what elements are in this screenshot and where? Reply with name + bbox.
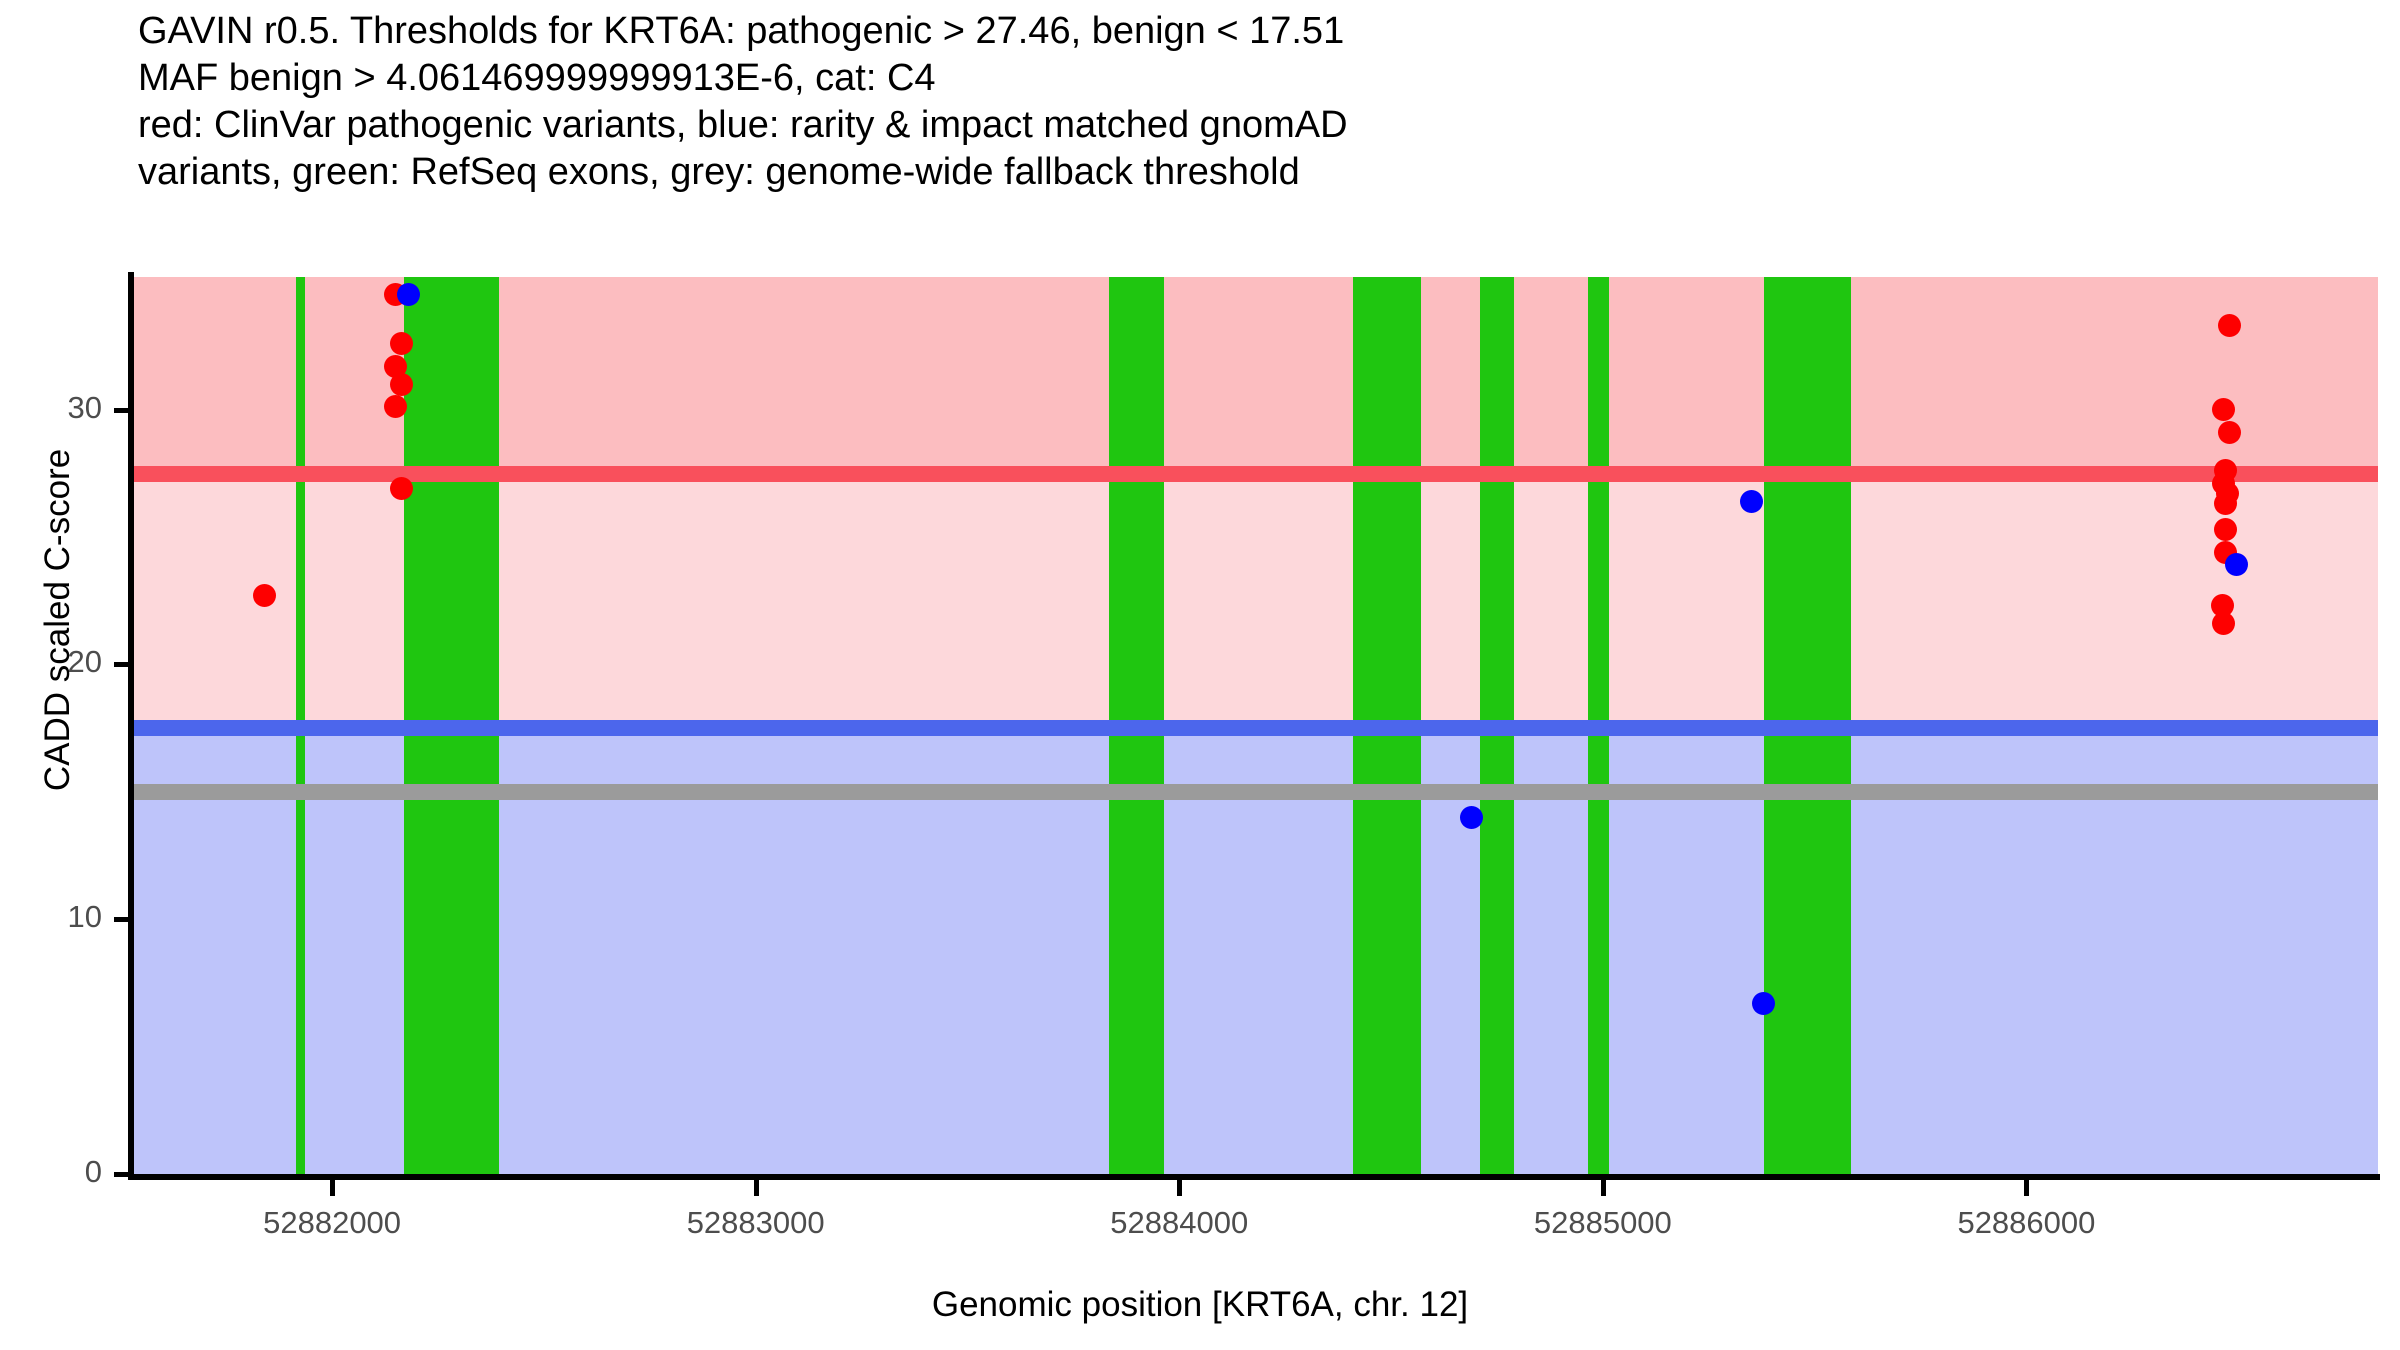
- x-tick-52885000: [1601, 1180, 1606, 1196]
- y-tick-label-0: 0: [0, 1154, 102, 1190]
- title-line-2: MAF benign > 4.061469999999913E-6, cat: …: [138, 55, 2338, 102]
- title-line-4: variants, green: RefSeq exons, grey: gen…: [138, 149, 2338, 196]
- x-tick-label-52886000: 52886000: [1886, 1205, 2166, 1241]
- x-tick-label-52885000: 52885000: [1463, 1205, 1743, 1241]
- y-tick-10: [114, 917, 128, 922]
- clinvar-variant-point: [2212, 612, 2235, 635]
- y-tick-20: [114, 662, 128, 667]
- y-tick-0: [114, 1172, 128, 1177]
- x-axis-line: [128, 1174, 2380, 1180]
- gnomad-variant-point: [1460, 806, 1483, 829]
- threshold-line-pathogenic-threshold: [133, 466, 2378, 482]
- x-tick-label-52882000: 52882000: [192, 1205, 472, 1241]
- title-line-1: GAVIN r0.5. Thresholds for KRT6A: pathog…: [138, 8, 2338, 55]
- clinvar-variant-point: [2218, 314, 2241, 337]
- x-axis-title: Genomic position [KRT6A, chr. 12]: [600, 1285, 1800, 1325]
- clinvar-variant-point: [2214, 518, 2237, 541]
- clinvar-variant-point: [253, 584, 276, 607]
- y-axis-title: CADD scaled C-score: [38, 340, 78, 900]
- plot-panel: [133, 277, 2378, 1174]
- plot-title-block: GAVIN r0.5. Thresholds for KRT6A: pathog…: [138, 8, 2338, 196]
- gnomad-variant-point: [1740, 490, 1763, 513]
- gnomad-variant-point: [397, 283, 420, 306]
- x-tick-label-52883000: 52883000: [616, 1205, 896, 1241]
- x-tick-52883000: [754, 1180, 759, 1196]
- threshold-line-benign-threshold: [133, 720, 2378, 736]
- x-tick-52882000: [330, 1180, 335, 1196]
- clinvar-variant-point: [390, 373, 413, 396]
- gnomad-variant-point: [2225, 553, 2248, 576]
- title-line-3: red: ClinVar pathogenic variants, blue: …: [138, 102, 2338, 149]
- y-axis-line: [128, 272, 134, 1178]
- gnomad-variant-point: [1752, 992, 1775, 1015]
- y-tick-label-10: 10: [0, 899, 102, 935]
- plot-root: GAVIN r0.5. Thresholds for KRT6A: pathog…: [0, 0, 2400, 1350]
- x-tick-52886000: [2024, 1180, 2029, 1196]
- threshold-line-genome-wide-fallback-threshold: [133, 784, 2378, 800]
- x-tick-label-52884000: 52884000: [1039, 1205, 1319, 1241]
- clinvar-variant-point: [2212, 398, 2235, 421]
- x-tick-52884000: [1177, 1180, 1182, 1196]
- y-tick-30: [114, 408, 128, 413]
